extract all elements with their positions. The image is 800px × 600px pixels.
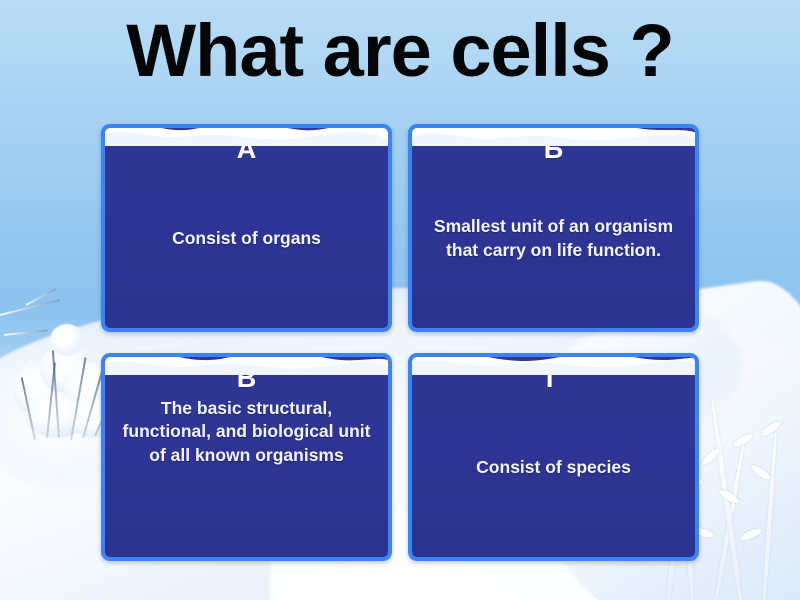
answer-text-a: Consist of organs — [172, 166, 321, 316]
answer-letter-v: В — [237, 363, 257, 395]
answer-letter-g: Г — [546, 363, 561, 395]
answer-text-g: Consist of species — [476, 395, 631, 545]
answer-card-g[interactable]: Г Consist of species — [408, 353, 699, 561]
answer-text-b: Smallest unit of an organism that carry … — [426, 166, 681, 316]
answer-card-b[interactable]: Б Smallest unit of an organism that carr… — [408, 124, 699, 332]
answer-text-v: The basic structural, functional, and bi… — [119, 395, 374, 545]
quiz-slide: What are cells ? А Consist of organs — [0, 0, 800, 600]
answer-card-grid: А Consist of organs Б Smallest unit of a… — [101, 124, 699, 561]
answer-letter-a: А — [237, 134, 257, 166]
answer-card-v[interactable]: В The basic structural, functional, and … — [101, 353, 392, 561]
answer-card-a[interactable]: А Consist of organs — [101, 124, 392, 332]
page-title: What are cells ? — [0, 12, 800, 90]
answer-letter-b: Б — [544, 134, 563, 166]
